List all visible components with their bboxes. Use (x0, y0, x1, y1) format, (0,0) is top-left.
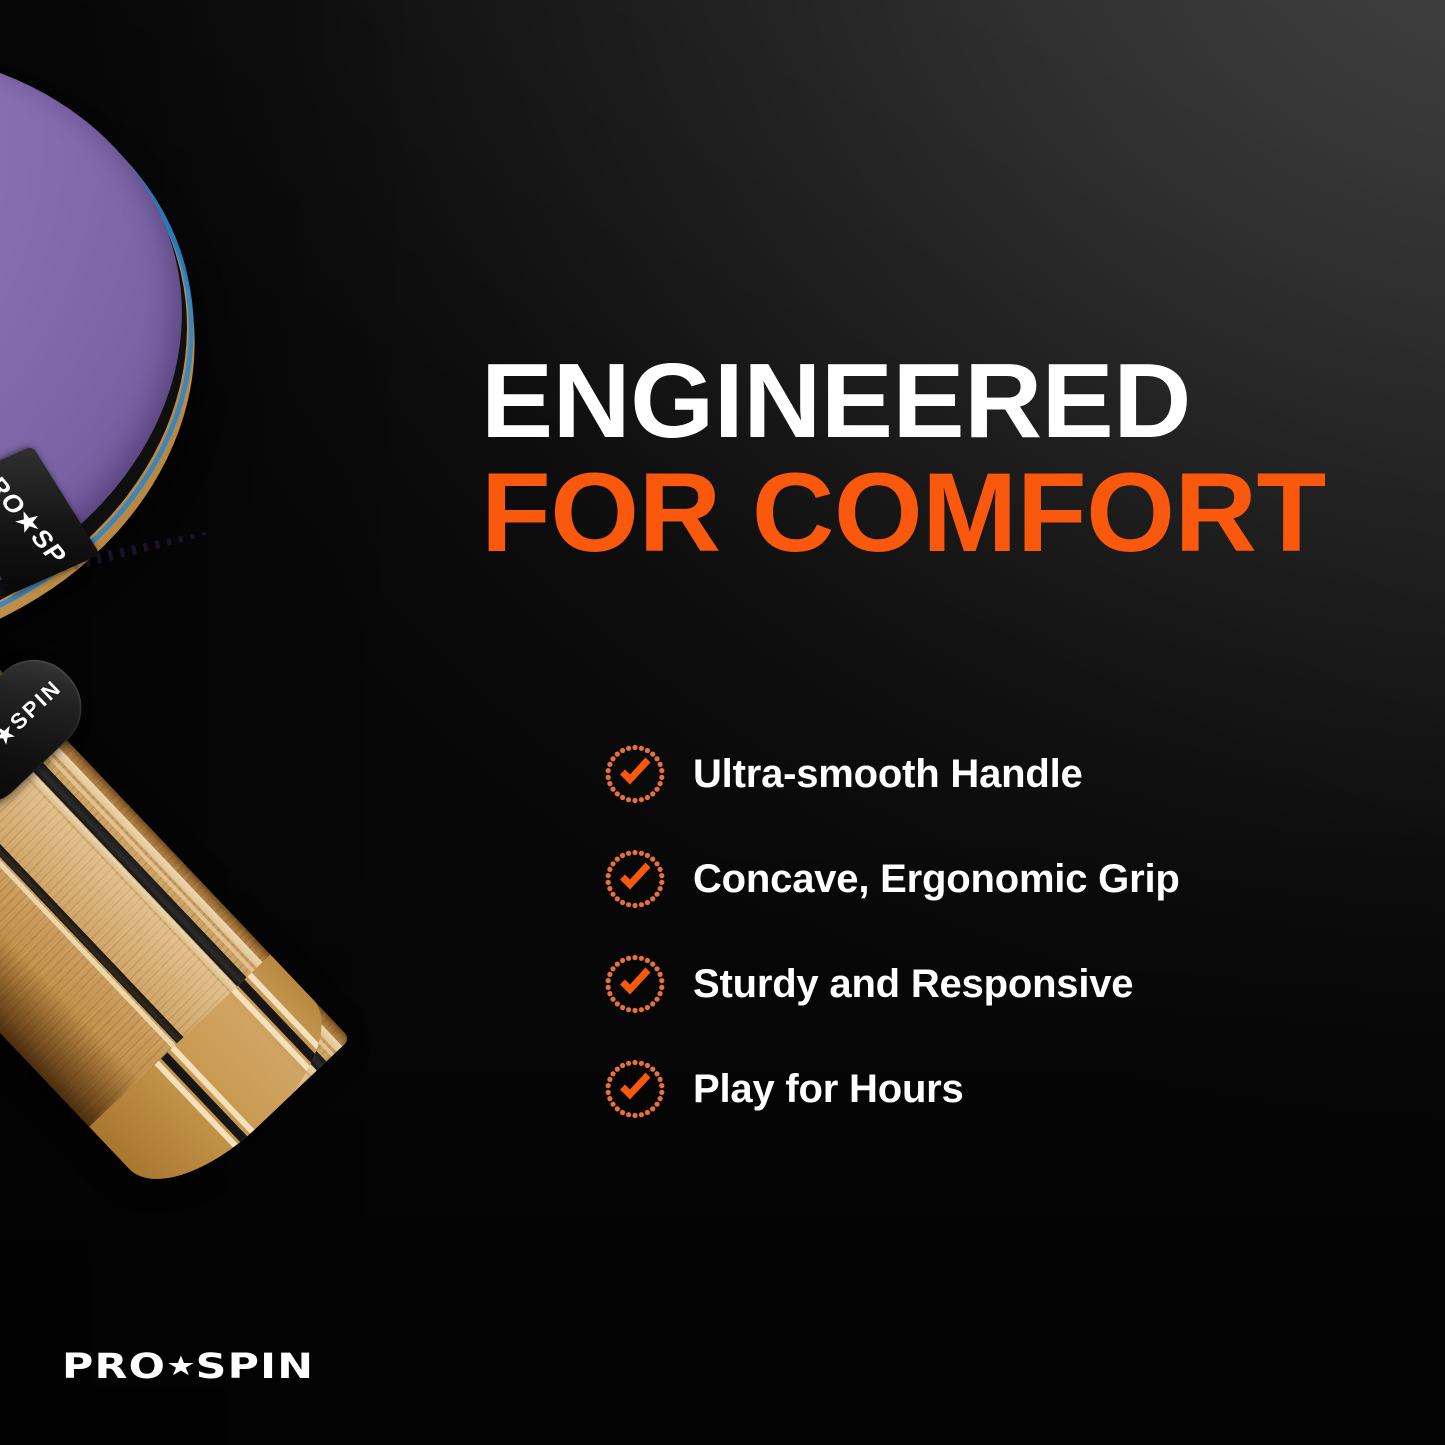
feature-list: Ultra-smooth Handle (605, 744, 1180, 1164)
headline-line-2: FOR COMFORT (481, 465, 1358, 561)
headline-block: ENGINEERED FOR COMFORT (481, 356, 1341, 561)
handle-wood-body (0, 560, 350, 1211)
product-image-ping-pong-paddle: PRO★SPIN PRO★SP (0, 40, 520, 1250)
feature-label: Sturdy and Responsive (693, 964, 1133, 1004)
brand-logo-part1: PRO (62, 1347, 166, 1387)
brand-logo-part2: SPIN (196, 1347, 315, 1387)
check-circle-icon (605, 849, 665, 909)
feature-item: Sturdy and Responsive (605, 954, 1180, 1014)
check-circle-icon (605, 954, 665, 1014)
feature-item: Play for Hours (605, 1059, 1180, 1119)
paddle-handle (0, 560, 350, 1211)
plywood-layer-dark (238, 979, 327, 1072)
feature-label: Play for Hours (693, 1069, 964, 1109)
check-circle-icon (605, 1059, 665, 1119)
product-marketing-banner: PRO★SPIN PRO★SP ENGINEERED FOR COMFORT (0, 0, 1445, 1445)
feature-label: Concave, Ergonomic Grip (693, 859, 1180, 899)
plywood-layer-dark (161, 1052, 250, 1145)
headline-line-1: ENGINEERED (481, 356, 1358, 447)
feature-item: Ultra-smooth Handle (605, 744, 1180, 804)
feature-item: Concave, Ergonomic Grip (605, 849, 1180, 909)
brand-logo-star-icon: ★ (166, 1351, 196, 1382)
brand-logo: PRO★SPIN (62, 1347, 314, 1387)
feature-label: Ultra-smooth Handle (693, 754, 1083, 794)
check-circle-icon (605, 744, 665, 804)
paddle-head (0, 0, 271, 743)
